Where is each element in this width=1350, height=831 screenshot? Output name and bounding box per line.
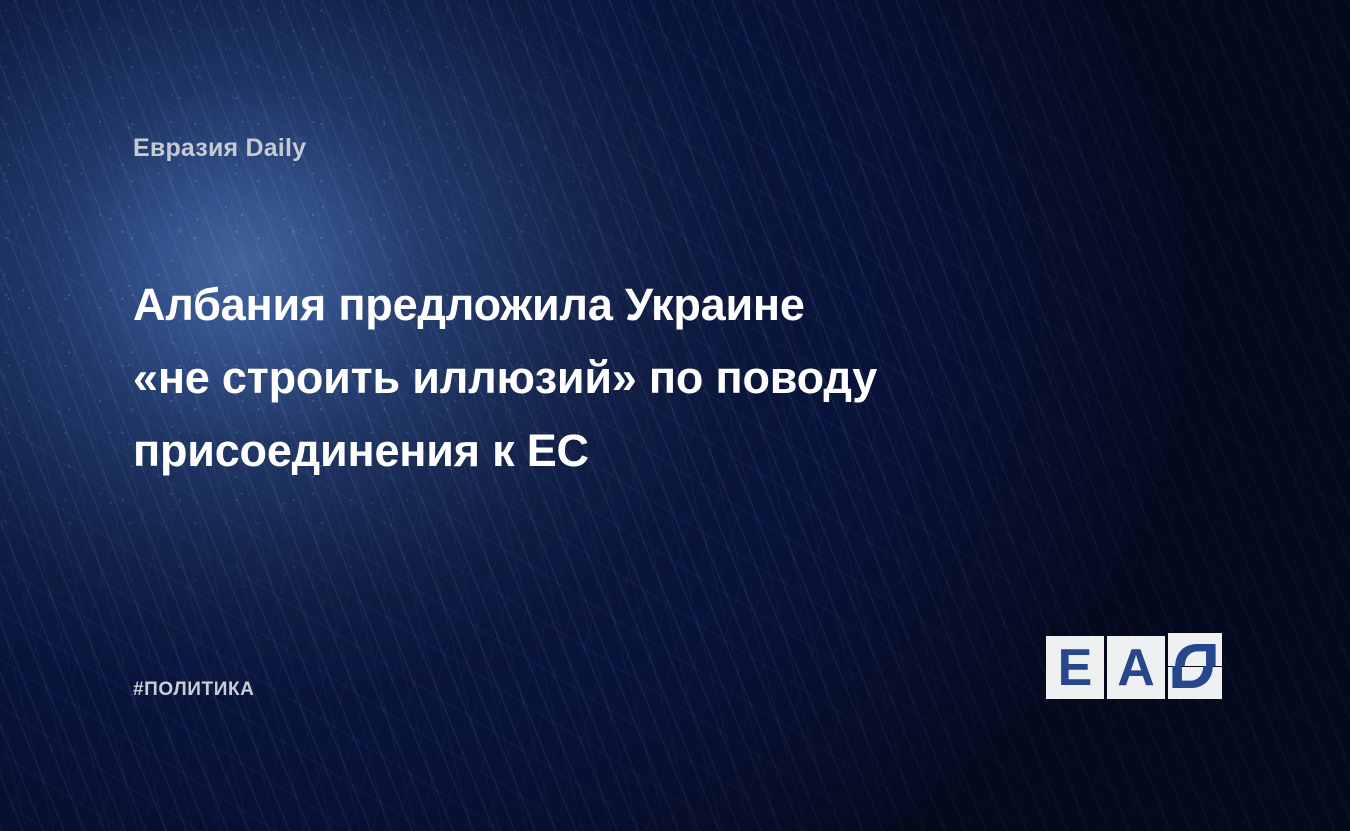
headline-line-1: Албания предложила Украине bbox=[133, 268, 1033, 341]
logo-letter-d-lower-glyph: D bbox=[1168, 666, 1220, 699]
card-content: Евразия Daily Албания предложила Украине… bbox=[0, 0, 1350, 831]
headline-line-2: «не строить иллюзий» по поводу bbox=[133, 341, 1033, 414]
logo-letter-a: A bbox=[1107, 636, 1165, 699]
logo-letter-d-lower: D bbox=[1168, 666, 1220, 699]
eadaily-logo[interactable]: E A D D bbox=[1046, 633, 1222, 699]
news-card: Евразия Daily Албания предложила Украине… bbox=[0, 0, 1350, 831]
logo-letter-d-group: D D bbox=[1159, 632, 1233, 700]
page-title: Албания предложила Украине «не строить и… bbox=[133, 268, 1033, 487]
logo-letter-e: E bbox=[1046, 636, 1104, 699]
brand-wordmark: Евразия Daily bbox=[133, 134, 306, 163]
logo-letter-d-rotated-glyph: D bbox=[1168, 633, 1220, 666]
headline-line-3: присоединения к ЕС bbox=[133, 414, 1033, 487]
category-hashtag[interactable]: #ПОЛИТИКА bbox=[133, 679, 255, 701]
logo-letter-d-rotated: D bbox=[1168, 633, 1220, 666]
